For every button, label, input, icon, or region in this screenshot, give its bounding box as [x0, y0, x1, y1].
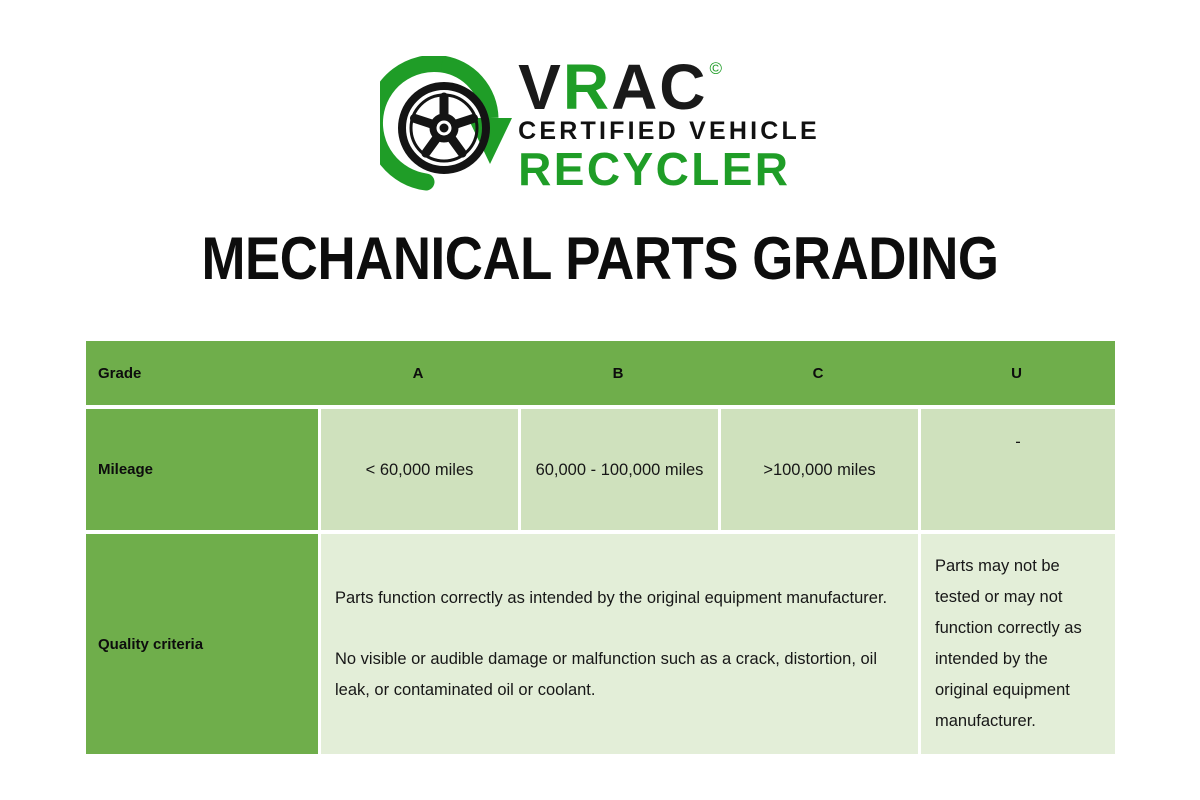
logo-letters-ac: AC [611, 56, 707, 118]
quality-criteria-u-cell: Parts may not be tested or may not funct… [918, 534, 1115, 754]
quality-criteria-abc-cell: Parts function correctly as intended by … [318, 534, 918, 754]
header-grade-c: C [718, 341, 918, 405]
copyright-icon: © [710, 60, 725, 77]
logo-inner: VRAC© CERTIFIED VEHICLE RECYCLER [380, 52, 820, 193]
logo-tagline: CERTIFIED VEHICLE [518, 116, 820, 146]
mechanical-parts-grading-page: VRAC© CERTIFIED VEHICLE RECYCLER MECHANI… [0, 0, 1200, 800]
table-header-row: Grade A B C U [86, 341, 1115, 405]
grading-table: Grade A B C U Mileage < 60,000 miles 60,… [86, 341, 1115, 754]
header-grade-u: U [918, 341, 1115, 405]
row-label-quality-criteria: Quality criteria [86, 534, 318, 754]
mileage-value-c: >100,000 miles [718, 409, 918, 530]
mileage-value-a: < 60,000 miles [318, 409, 518, 530]
table-row-mileage: Mileage < 60,000 miles 60,000 - 100,000 … [86, 409, 1115, 530]
table-row-quality-criteria: Quality criteria Parts function correctl… [86, 534, 1115, 754]
header-grade-a: A [318, 341, 518, 405]
quality-criteria-u-paragraph: Parts may not be tested or may not funct… [935, 551, 1105, 737]
row-label-mileage: Mileage [86, 409, 318, 530]
quality-criteria-paragraph-2: No visible or audible damage or malfunct… [335, 644, 902, 706]
page-title: MECHANICAL PARTS GRADING [72, 222, 1128, 296]
logo-wordmark-recycler: RECYCLER [518, 145, 790, 193]
logo-letter-r: R [563, 56, 611, 118]
header-grade-b: B [518, 341, 718, 405]
brand-logo: VRAC© CERTIFIED VEHICLE RECYCLER [0, 52, 1200, 202]
header-grade-label: Grade [86, 341, 318, 405]
mileage-value-b: 60,000 - 100,000 miles [518, 409, 718, 530]
vrac-recycling-wheel-logo-icon [380, 56, 512, 192]
quality-criteria-paragraph-1: Parts function correctly as intended by … [335, 583, 902, 614]
mileage-value-u: - [918, 409, 1115, 530]
logo-brand-name: VRAC© [518, 56, 724, 118]
logo-wordmark: VRAC© CERTIFIED VEHICLE RECYCLER [518, 56, 820, 193]
logo-letter-v: V [518, 56, 563, 118]
